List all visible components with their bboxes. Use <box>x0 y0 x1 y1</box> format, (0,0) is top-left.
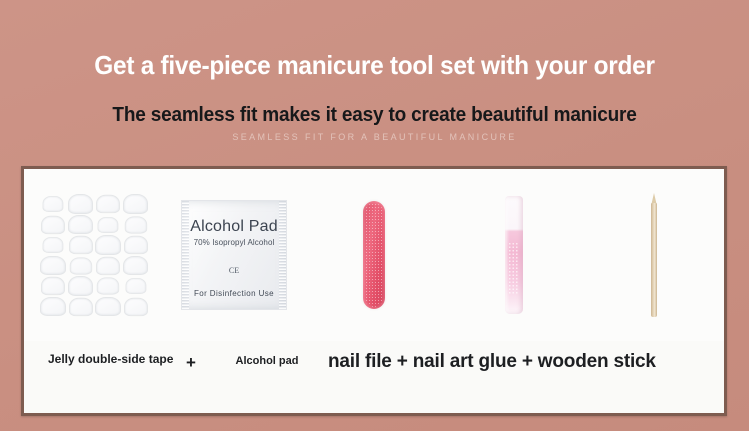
alcohol-pad-sachet-icon: Alcohol Pad 70% Isopropyl Alcohol CE For… <box>181 200 287 310</box>
sachet-title: Alcohol Pad <box>190 218 278 236</box>
product-panel: Alcohol Pad 70% Isopropyl Alcohol CE For… <box>21 166 727 416</box>
nail-file-icon <box>363 201 385 309</box>
product-alcohol-pad: Alcohol Pad 70% Isopropyl Alcohol CE For… <box>164 169 304 341</box>
product-wooden-stick <box>584 169 724 341</box>
product-jelly-tape <box>24 169 164 341</box>
product-nail-file <box>304 169 444 341</box>
wooden-stick-icon <box>651 193 657 317</box>
caption-alcohol-pad: Alcohol pad <box>208 351 326 367</box>
sachet-subtitle: 70% Isopropyl Alcohol <box>194 238 275 247</box>
product-nail-art-glue <box>444 169 584 341</box>
sachet-use-text: For Disinfection Use <box>194 289 274 298</box>
headline: Get a five-piece manicure tool set with … <box>22 50 726 81</box>
product-row: Alcohol Pad 70% Isopropyl Alcohol CE For… <box>24 169 724 341</box>
ce-mark: CE <box>229 266 239 275</box>
caption-plus-separator: + <box>174 351 208 373</box>
nail-tape-sheet-icon <box>40 194 148 316</box>
glue-tube-icon <box>505 196 523 314</box>
subheadline: The seamless fit makes it easy to create… <box>19 104 731 127</box>
promo-banner: Get a five-piece manicure tool set with … <box>0 0 749 431</box>
caption-row: Jelly double-side tape + Alcohol pad nai… <box>24 341 724 413</box>
caption-jelly-tape: Jelly double-side tape <box>48 351 174 367</box>
kicker-text: SEAMLESS FIT FOR A BEAUTIFUL MANICURE <box>0 132 749 142</box>
caption-remaining-tools: nail file + nail art glue + wooden stick <box>326 351 724 373</box>
